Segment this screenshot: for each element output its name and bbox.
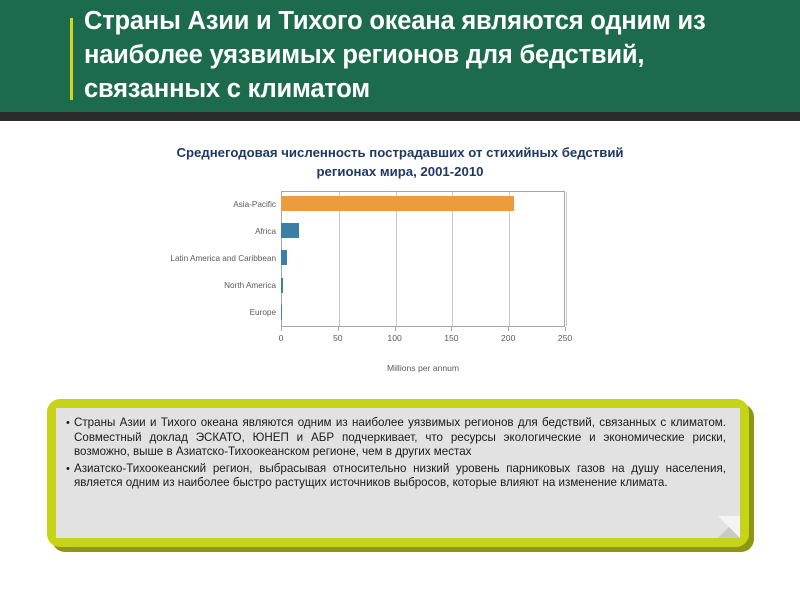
page-title: Страны Азии и Тихого океана являются одн… — [84, 4, 784, 106]
chart-y-label: Asia-Pacific — [233, 200, 276, 209]
chart-gridline — [566, 192, 567, 326]
chart-bars — [281, 191, 565, 327]
chart-bar-row — [281, 245, 565, 272]
chart-x-tick-label: 0 — [261, 333, 301, 343]
chart-canvas: Asia-PacificAfricaLatin America and Cari… — [0, 121, 800, 391]
page-fold-highlight-icon — [718, 516, 740, 538]
content-box-inner: • Страны Азии и Тихого океана являются о… — [56, 408, 740, 538]
list-item: • Азиатско-Тихоокеанский регион, выбрасы… — [66, 462, 726, 491]
chart-x-tick-mark — [451, 327, 452, 331]
chart-y-label: Latin America and Caribbean — [170, 254, 276, 263]
chart-bar-row — [281, 300, 565, 327]
chart-bar-row — [281, 218, 565, 245]
chart-x-tick-mark — [338, 327, 339, 331]
chart-bar — [281, 196, 514, 211]
chart-x-tick-mark — [281, 327, 282, 331]
list-item: • Страны Азии и Тихого океана являются о… — [66, 416, 726, 460]
header-accent-bar — [70, 18, 73, 100]
chart-y-axis-labels: Asia-PacificAfricaLatin America and Cari… — [0, 191, 276, 327]
chart-x-tick-mark — [508, 327, 509, 331]
bullet-marker-icon: • — [66, 416, 74, 431]
chart-y-label: North America — [224, 281, 276, 290]
list-item-text: Страны Азии и Тихого океана являются одн… — [74, 416, 726, 460]
bullet-marker-icon: • — [66, 462, 74, 477]
header-underline-divider — [0, 112, 800, 121]
chart-x-tick-mark — [395, 327, 396, 331]
chart-y-label: Africa — [255, 227, 276, 236]
chart-y-label: Europe — [250, 308, 276, 317]
chart-x-axis-label: Millions per annum — [281, 363, 565, 373]
chart-x-tick-label: 50 — [318, 333, 358, 343]
content-box: • Страны Азии и Тихого океана являются о… — [47, 399, 749, 547]
chart-bar-row — [281, 191, 565, 218]
chart-bar — [281, 223, 299, 238]
chart-x-tick-label: 200 — [488, 333, 528, 343]
chart-bar — [281, 278, 283, 293]
chart-x-tick-label: 100 — [375, 333, 415, 343]
chart-bar — [281, 250, 287, 265]
chart-x-tick-label: 150 — [431, 333, 471, 343]
list-item-text: Азиатско-Тихоокеанский регион, выбрасыва… — [74, 462, 726, 491]
chart-block: Среднегодовая численность пострадавших о… — [0, 121, 800, 391]
chart-bar-row — [281, 273, 565, 300]
slide-header: Страны Азии и Тихого океана являются одн… — [0, 0, 800, 112]
chart-x-tick-mark — [565, 327, 566, 331]
chart-x-tick-label: 250 — [545, 333, 585, 343]
